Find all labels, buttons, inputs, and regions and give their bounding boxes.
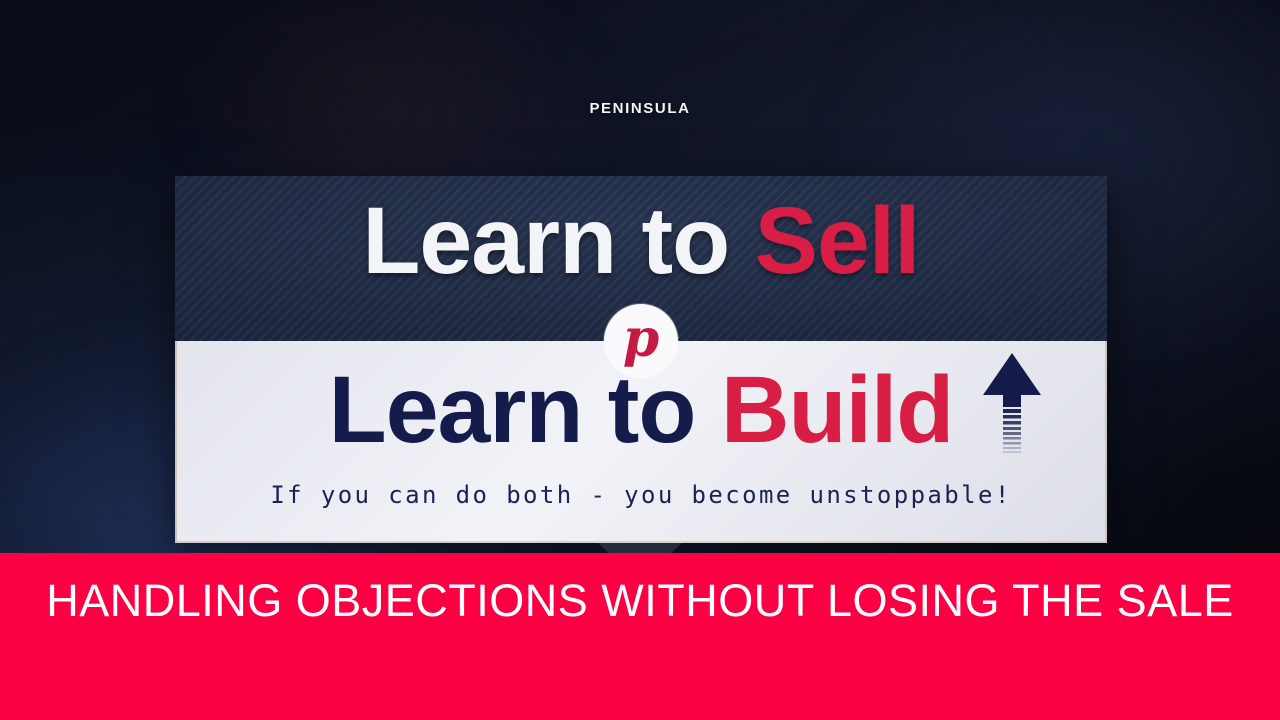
peninsula-logo-badge: p xyxy=(604,304,678,378)
headline-top-white-text: Learn to xyxy=(362,188,729,294)
headline-learn-to-sell: Learn to Sell xyxy=(175,194,1107,289)
slide-title: HANDLING OBJECTIONS WITHOUT LOSING THE S… xyxy=(46,575,1234,627)
bottom-title-banner: HANDLING OBJECTIONS WITHOUT LOSING THE S… xyxy=(0,553,1280,720)
brand-name: PENINSULA xyxy=(0,100,1280,117)
presentation-slide: PENINSULA Learn to Sell Learn to Build xyxy=(0,0,1280,720)
card-tagline: If you can do both - you become unstoppa… xyxy=(177,481,1105,509)
headline-bottom-accent-text: Build xyxy=(721,357,953,463)
title-card: Learn to Sell Learn to Build xyxy=(175,176,1107,543)
upward-growth-arrow-icon xyxy=(981,351,1043,457)
headline-top-accent-text: Sell xyxy=(755,188,920,294)
logo-letter-p: p xyxy=(623,313,659,365)
